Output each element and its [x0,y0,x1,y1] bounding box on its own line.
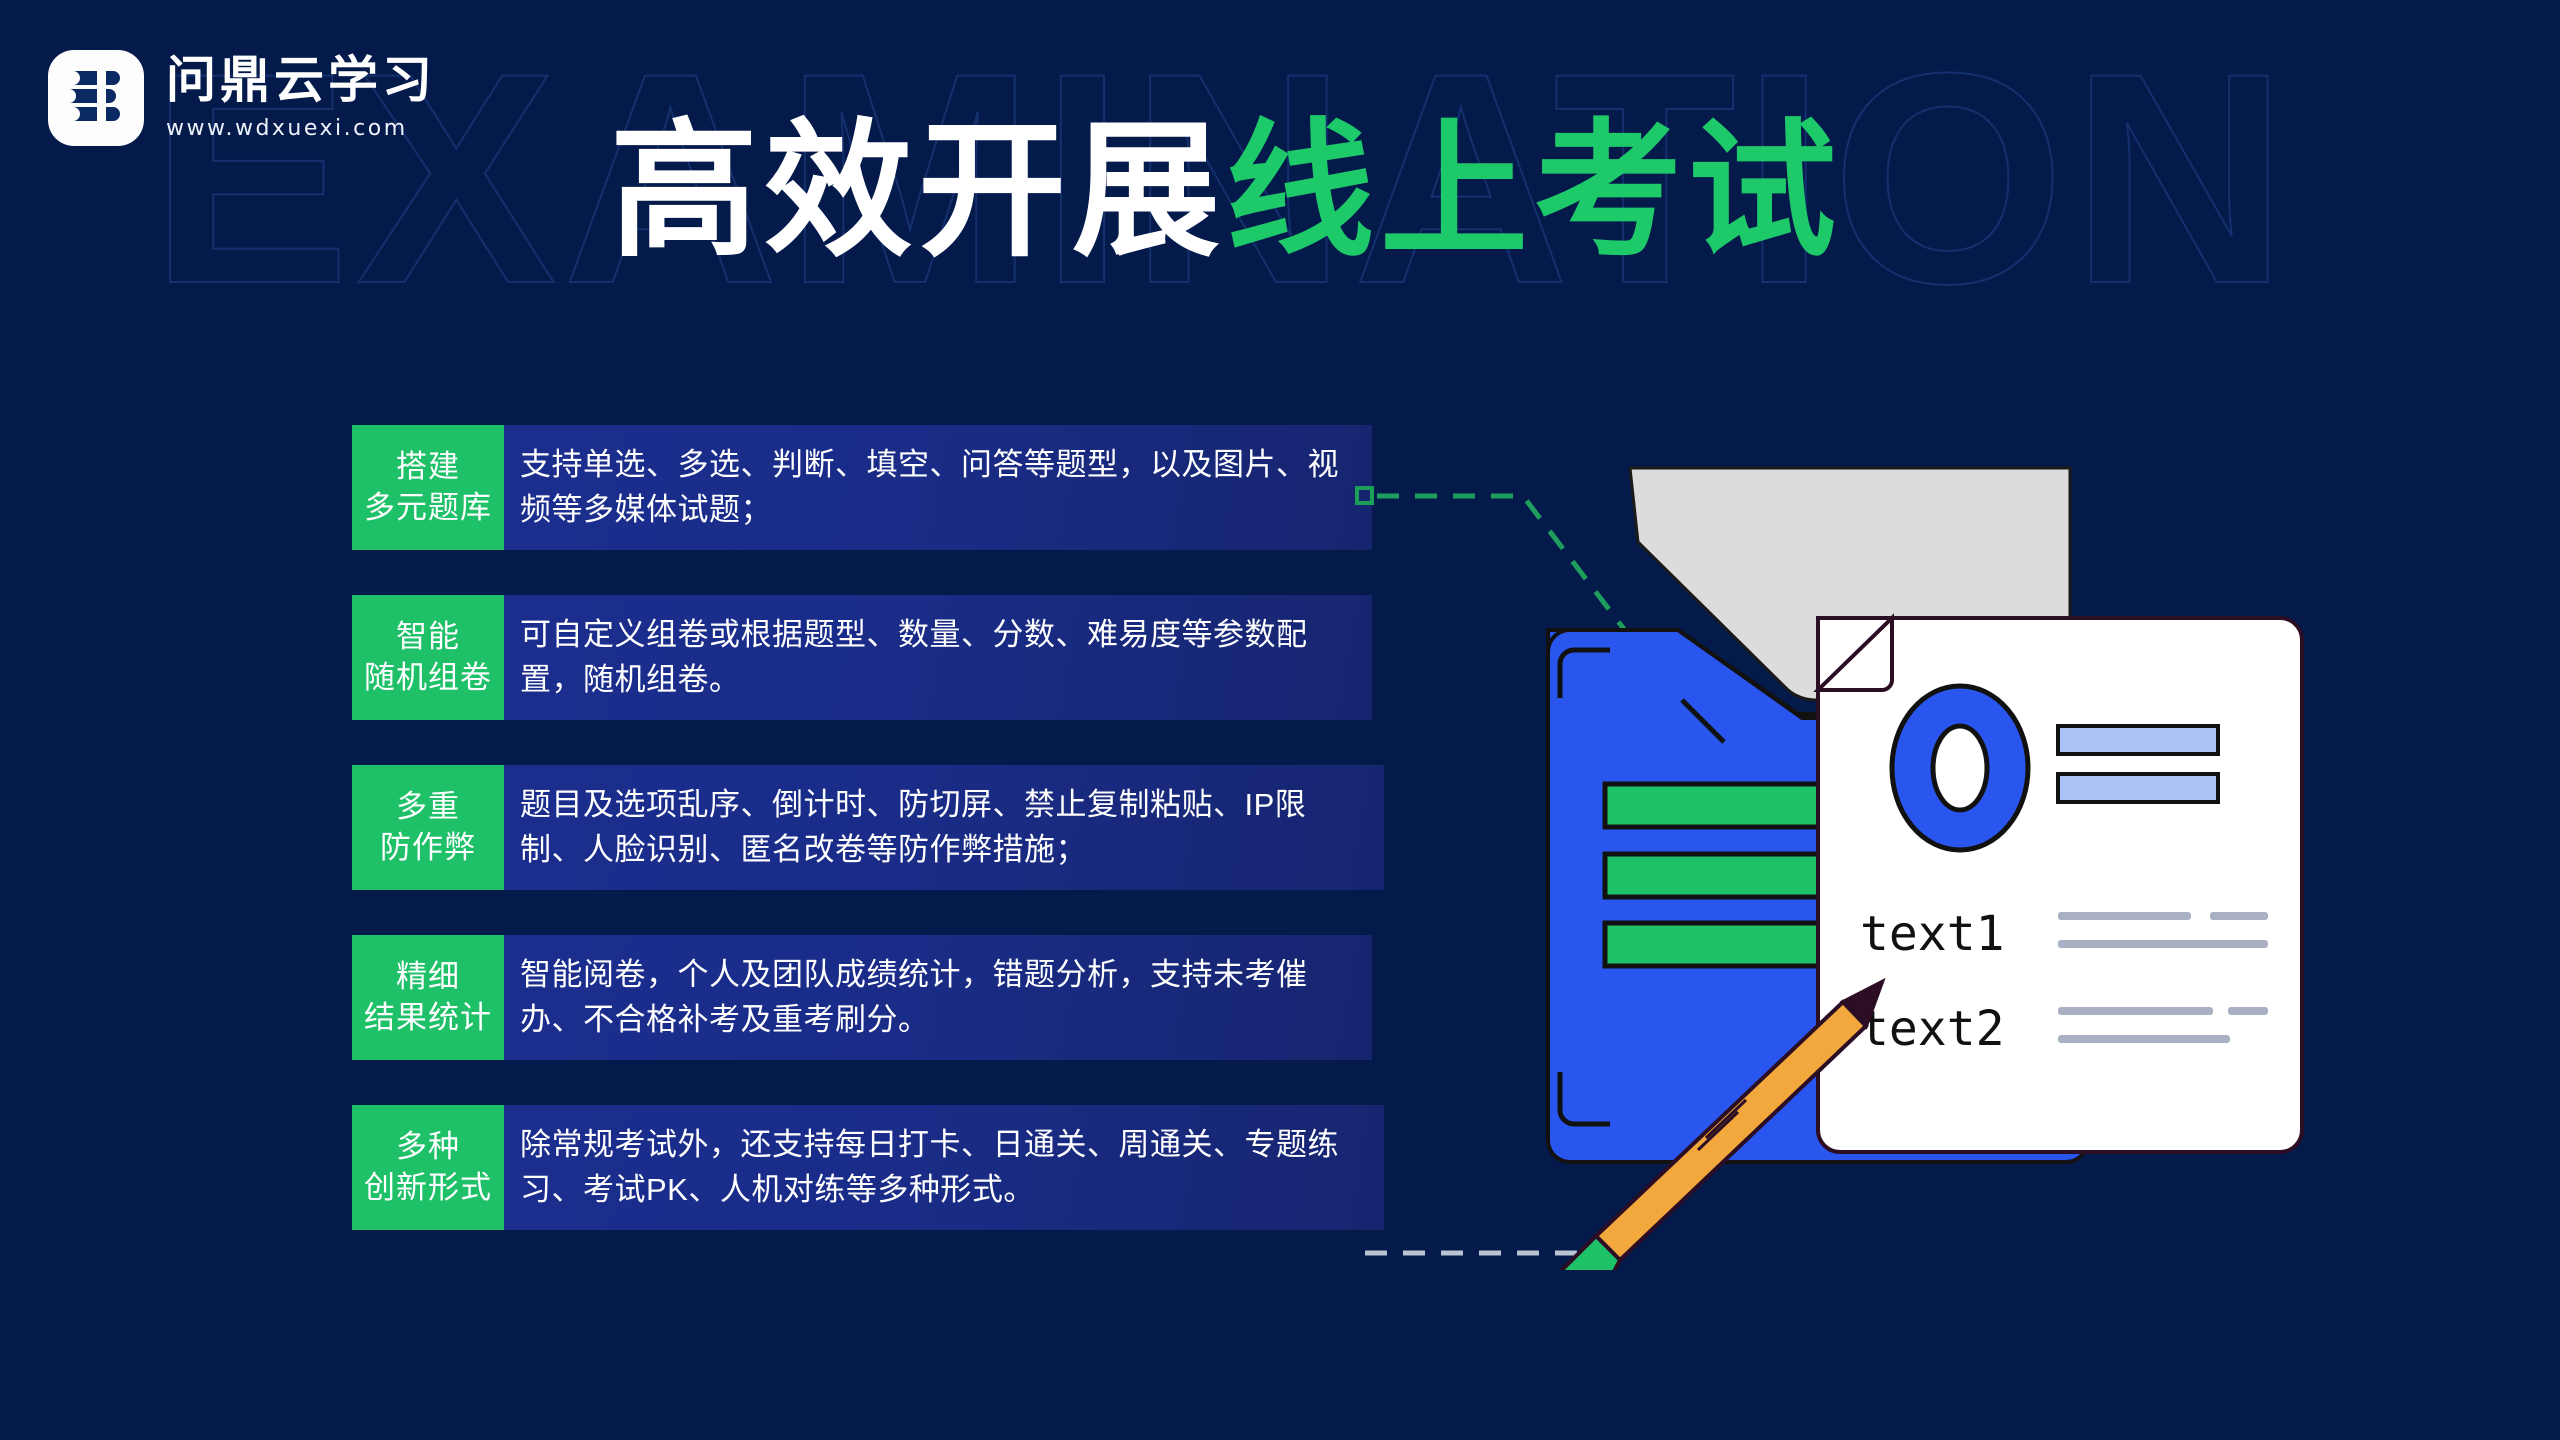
feature-tag-line1: 智能 [396,617,460,658]
feature-tag-line1: 多重 [396,787,460,828]
feature-tag-line2: 创新形式 [364,1168,492,1209]
feature-description: 可自定义组卷或根据题型、数量、分数、难易度等参数配置，随机组卷。 [502,595,1372,720]
feature-row: 搭建 多元题库 支持单选、多选、判断、填空、问答等题型，以及图片、视频等多媒体试… [352,425,1372,550]
poster-canvas: EXAMINATION 问鼎云学习 www.wdxuexi.com 高效开展线上… [0,0,2560,1440]
feature-tag-line2: 随机组卷 [364,658,492,699]
feature-row: 智能 随机组卷 可自定义组卷或根据题型、数量、分数、难易度等参数配置，随机组卷。 [352,595,1372,720]
document-row1-label: text1 [1860,906,2005,962]
document-row2-label: text2 [1860,1001,2005,1057]
feature-tag: 智能 随机组卷 [352,595,504,720]
feature-description: 支持单选、多选、判断、填空、问答等题型，以及图片、视频等多媒体试题； [502,425,1372,550]
feature-tag-line1: 多种 [396,1127,460,1168]
page-title: 高效开展线上考试 [610,118,1842,266]
feature-tag: 精细 结果统计 [352,935,504,1060]
feature-row: 精细 结果统计 智能阅卷，个人及团队成绩统计，错题分析，支持未考催办、不合格补考… [352,935,1372,1060]
feature-row: 多种 创新形式 除常规考试外，还支持每日打卡、日通关、周通关、专题练习、考试PK… [352,1105,1372,1230]
brand-text: 问鼎云学习 www.wdxuexi.com [166,50,436,141]
feature-tag: 多重 防作弊 [352,765,504,890]
feature-tag-line2: 多元题库 [364,488,492,529]
brand-name: 问鼎云学习 [166,54,436,107]
brand-block: 问鼎云学习 www.wdxuexi.com [48,50,436,146]
feature-row: 多重 防作弊 题目及选项乱序、倒计时、防切屏、禁止复制粘贴、IP限制、人脸识别、… [352,765,1372,890]
page-title-white: 高效开展 [610,109,1226,274]
exam-document-icon: O text1 text2 [1818,618,2302,1152]
exam-illustration: O text1 text2 [1510,450,2520,1270]
feature-tag-line2: 防作弊 [380,828,476,869]
feature-list: 搭建 多元题库 支持单选、多选、判断、填空、问答等题型，以及图片、视频等多媒体试… [352,425,1372,1230]
feature-description: 题目及选项乱序、倒计时、防切屏、禁止复制粘贴、IP限制、人脸识别、匿名改卷等防作… [502,765,1384,890]
brand-url: www.wdxuexi.com [166,116,436,141]
book-logo-icon [48,50,144,146]
feature-tag: 多种 创新形式 [352,1105,504,1230]
page-title-green: 线上考试 [1226,109,1842,274]
feature-tag: 搭建 多元题库 [352,425,504,550]
feature-tag-line1: 精细 [396,957,460,998]
feature-tag-line2: 结果统计 [364,998,492,1039]
feature-description: 智能阅卷，个人及团队成绩统计，错题分析，支持未考催办、不合格补考及重考刷分。 [502,935,1372,1060]
feature-tag-line1: 搭建 [396,447,460,488]
feature-description: 除常规考试外，还支持每日打卡、日通关、周通关、专题练习、考试PK、人机对练等多种… [502,1105,1384,1230]
